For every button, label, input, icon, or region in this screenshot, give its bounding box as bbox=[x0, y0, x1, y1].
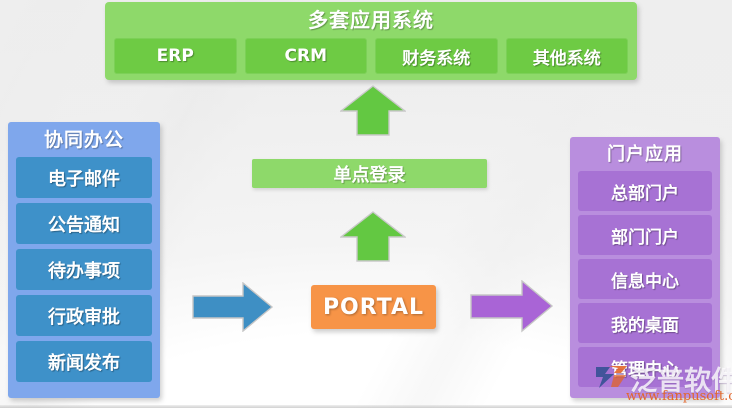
panel-title-portal-applications: 门户应用 bbox=[570, 137, 720, 170]
portal-applications-list: 总部门户 部门门户 信息中心 我的桌面 管理中心 bbox=[578, 171, 712, 387]
portal-item-info-center[interactable]: 信息中心 bbox=[578, 259, 712, 299]
office-item-approval[interactable]: 行政审批 bbox=[16, 295, 152, 336]
system-item-crm[interactable]: CRM bbox=[245, 38, 368, 74]
system-item-finance[interactable]: 财务系统 bbox=[375, 38, 498, 74]
panel-title-application-systems: 多套应用系统 bbox=[105, 2, 637, 35]
portal-box[interactable]: PORTAL bbox=[311, 285, 436, 329]
portal-item-my-desktop[interactable]: 我的桌面 bbox=[578, 303, 712, 343]
arrow-right-icon-portal-to-apps bbox=[470, 280, 554, 333]
panel-portal-applications: 门户应用 总部门户 部门门户 信息中心 我的桌面 管理中心 bbox=[570, 137, 720, 398]
portal-item-headquarters[interactable]: 总部门户 bbox=[578, 171, 712, 211]
portal-item-department[interactable]: 部门门户 bbox=[578, 215, 712, 255]
office-item-news[interactable]: 新闻发布 bbox=[16, 341, 152, 382]
panel-title-collaborative-office: 协同办公 bbox=[8, 122, 160, 156]
diagram-canvas: 多套应用系统 ERP CRM 财务系统 其他系统 单点登录 协同办公 电子邮件 … bbox=[0, 0, 732, 408]
panel-collaborative-office: 协同办公 电子邮件 公告通知 待办事项 行政审批 新闻发布 bbox=[8, 122, 160, 398]
arrow-right-icon-office-to-portal bbox=[192, 282, 274, 332]
application-systems-list: ERP CRM 财务系统 其他系统 bbox=[114, 38, 628, 74]
office-item-announcement[interactable]: 公告通知 bbox=[16, 203, 152, 244]
arrow-up-icon-to-systems bbox=[340, 85, 406, 138]
single-sign-on-box[interactable]: 单点登录 bbox=[252, 159, 487, 188]
portal-item-admin-center[interactable]: 管理中心 bbox=[578, 347, 712, 387]
system-item-erp[interactable]: ERP bbox=[114, 38, 237, 74]
office-item-email[interactable]: 电子邮件 bbox=[16, 157, 152, 198]
arrow-up-icon-to-sso bbox=[340, 211, 406, 264]
collaborative-office-list: 电子邮件 公告通知 待办事项 行政审批 新闻发布 bbox=[16, 157, 152, 382]
system-item-other[interactable]: 其他系统 bbox=[506, 38, 629, 74]
office-item-todo[interactable]: 待办事项 bbox=[16, 249, 152, 290]
panel-application-systems: 多套应用系统 ERP CRM 财务系统 其他系统 bbox=[105, 2, 637, 80]
